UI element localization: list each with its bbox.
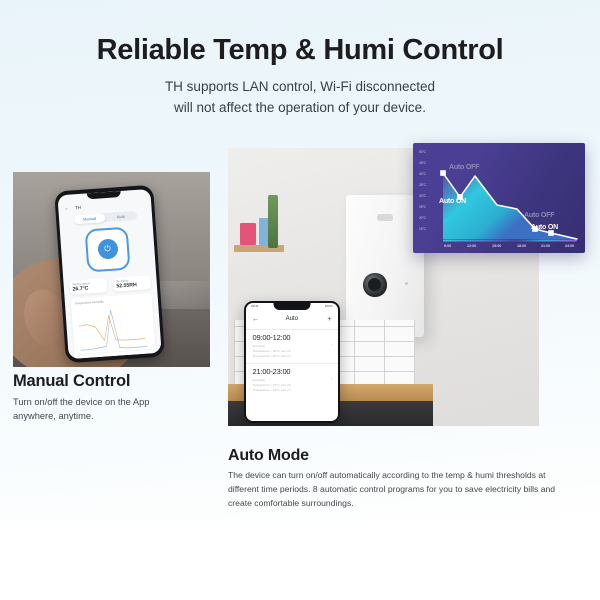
schedule-repeat: Everyday — [253, 378, 331, 382]
y-axis-tick: 35°C — [419, 183, 426, 187]
chart-baseline-bar — [443, 240, 577, 242]
temperature-chart-panel: 50°C 45°C 40°C 35°C 30°C 25°C 20°C 15°C … — [413, 143, 585, 253]
auto-mode-caption: Auto Mode The device can turn on/off aut… — [228, 447, 558, 510]
temperature-card: Temperature 26.7°C — [69, 278, 107, 295]
chart-annotation-auto-off-2: Auto OFF — [524, 212, 554, 219]
humidity-card: Humidity 52.55RH — [113, 275, 151, 292]
x-axis-tick: 18:00 — [517, 244, 526, 248]
auto-mode-title: Auto Mode — [228, 447, 558, 465]
y-axis-tick: 20°C — [419, 216, 426, 220]
boiler-dial-inner — [368, 278, 381, 291]
schedule-condition-2: Temperature < 26°C, turn on — [253, 354, 331, 358]
x-axis-tick: 12:00 — [467, 244, 476, 248]
boiler-dial — [363, 273, 386, 296]
auto-screen-title: Auto — [246, 314, 338, 325]
left-phone-device: ← TH Manual Auto ⏻ Temperature 26.7°C Hu… — [54, 184, 164, 362]
tab-auto[interactable]: Auto — [105, 211, 137, 222]
chevron-right-icon[interactable]: › — [331, 376, 333, 382]
header: Reliable Temp & Humi Control TH supports… — [0, 34, 600, 119]
page-subtitle-line-1: TH supports LAN control, Wi-Fi disconnec… — [0, 77, 600, 98]
chevron-right-icon[interactable]: › — [331, 342, 333, 348]
y-axis-tick: 40°C — [419, 172, 426, 176]
schedule-repeat: Everyday — [253, 344, 331, 348]
y-axis-tick: 50°C — [419, 150, 426, 154]
manual-control-body-2: anywhere, anytime. — [13, 409, 223, 423]
schedule-condition-1: Temperature > 30°C, turn off — [253, 349, 331, 353]
auto-mode-body: The device can turn on/off automatically… — [228, 469, 558, 510]
schedule-condition-1: Temperature > 27°C, turn off — [253, 383, 331, 387]
y-axis-tick: 15°C — [419, 227, 426, 231]
chart-annotation-auto-on-2: Auto ON — [531, 224, 558, 231]
sensor-readings: Temperature 26.7°C Humidity 52.55RH — [69, 275, 151, 295]
left-phone-screen: ← TH Manual Auto ⏻ Temperature 26.7°C Hu… — [58, 189, 162, 359]
boiler-led-indicator — [405, 282, 408, 285]
x-axis-tick: 15:00 — [492, 244, 501, 248]
chart-annotation-auto-off-1: Auto OFF — [449, 164, 479, 171]
center-phone-screen: 09:41 100% ← Auto + 09:00-12:00 Everyday… — [246, 303, 338, 420]
boiler-pipe — [377, 214, 393, 221]
x-axis-tick: 24:00 — [565, 244, 574, 248]
history-chart-card: Temperature Humidity — [70, 293, 156, 359]
page-background-bottom — [0, 520, 600, 600]
center-phone-device: 09:41 100% ← Auto + 09:00-12:00 Everyday… — [244, 301, 340, 423]
phone-notch — [273, 303, 310, 310]
power-icon[interactable]: ⏻ — [97, 238, 118, 259]
x-axis-tick: 21:00 — [541, 244, 550, 248]
schedule-row[interactable]: 09:00-12:00 Everyday Temperature > 30°C,… — [246, 329, 338, 362]
manual-control-caption: Manual Control Turn on/off the device on… — [13, 372, 223, 424]
status-bar-time: 09:41 — [251, 304, 259, 308]
manual-control-photo: ← TH Manual Auto ⏻ Temperature 26.7°C Hu… — [13, 172, 210, 367]
x-axis-tick: 9:00 — [444, 244, 451, 248]
auto-screen-nav: ← Auto + — [246, 314, 338, 325]
page-subtitle-line-2: will not affect the operation of your de… — [0, 98, 600, 119]
schedule-row[interactable]: 21:00-23:00 Everyday Temperature > 27°C,… — [246, 363, 338, 396]
y-axis-tick: 30°C — [419, 194, 426, 198]
status-bar-battery: 100% — [325, 304, 333, 308]
back-arrow-icon[interactable]: ← — [64, 205, 69, 211]
hanging-plant — [268, 195, 277, 248]
page-title: Reliable Temp & Humi Control — [0, 34, 600, 67]
tab-manual[interactable]: Manual — [74, 213, 106, 224]
y-axis-tick: 45°C — [419, 161, 426, 165]
shelf-item-red — [240, 223, 256, 245]
humidity-value: 52.55RH — [116, 281, 148, 289]
manual-control-title: Manual Control — [13, 372, 223, 391]
chart-marker — [548, 230, 554, 236]
manual-control-body-1: Turn on/off the device on the App — [13, 395, 223, 409]
schedule-time: 21:00-23:00 — [253, 367, 331, 376]
chart-annotation-auto-on-1: Auto ON — [439, 198, 466, 205]
add-schedule-icon[interactable]: + — [327, 314, 331, 325]
device-power-tile[interactable]: ⏻ — [85, 226, 130, 271]
schedule-time: 09:00-12:00 — [253, 333, 331, 342]
app-screen-title: TH — [75, 204, 81, 209]
chart-marker — [440, 170, 446, 176]
y-axis-tick: 25°C — [419, 205, 426, 209]
schedule-condition-2: Temperature < 23°C, turn on — [253, 388, 331, 392]
